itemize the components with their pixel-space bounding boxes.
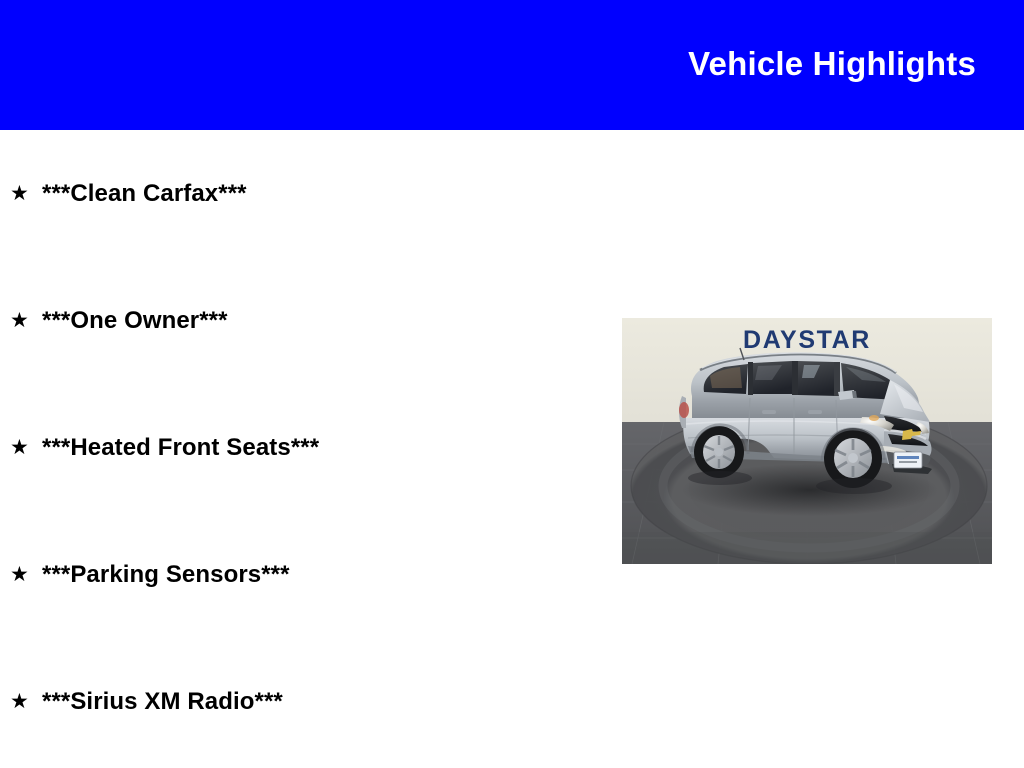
star-icon: ★ [10,437,42,458]
highlight-label: ***Heated Front Seats*** [42,434,319,462]
list-item: ★ ***One Owner*** [0,257,600,384]
star-icon: ★ [10,691,42,712]
list-item: ★ ***Clean Carfax*** [0,130,600,257]
highlight-label: ***Clean Carfax*** [42,180,247,208]
page-title: Vehicle Highlights [688,45,976,83]
star-icon: ★ [10,310,42,331]
list-item: ★ ***Heated Front Seats*** [0,384,600,511]
vehicle-photo-image: DAYSTAR Ford [622,318,992,564]
highlight-label: ***Parking Sensors*** [42,561,290,589]
highlight-label: ***One Owner*** [42,307,228,335]
vehicle-highlights-list: ★ ***Clean Carfax*** ★ ***One Owner*** ★… [0,130,600,765]
list-item: ★ ***Sirius XM Radio*** [0,638,600,765]
star-icon: ★ [10,183,42,204]
license-plate [894,452,922,468]
header-bar: Vehicle Highlights [0,0,1024,130]
star-icon: ★ [10,564,42,585]
dealer-name-text: DAYSTAR [743,326,871,354]
vehicle-photo: DAYSTAR Ford [622,318,992,564]
list-item: ★ ***Parking Sensors*** [0,511,600,638]
highlight-label: ***Sirius XM Radio*** [42,688,283,716]
